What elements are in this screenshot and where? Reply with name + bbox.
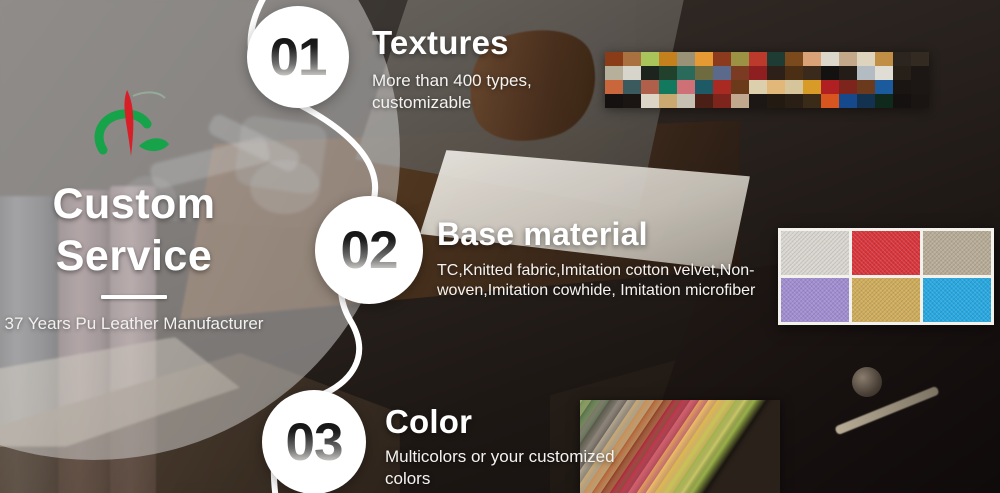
color-swatch-strip xyxy=(605,52,929,108)
color-swatch xyxy=(623,94,641,108)
color-swatch xyxy=(839,80,857,94)
color-swatch xyxy=(695,80,713,94)
color-swatch xyxy=(785,66,803,80)
color-swatch xyxy=(821,66,839,80)
color-swatch xyxy=(623,66,641,80)
step-number-circle-01: 01 xyxy=(247,6,349,108)
color-swatch xyxy=(731,94,749,108)
color-swatch xyxy=(785,52,803,66)
step-text-02: Base material TC,Knitted fabric,Imitatio… xyxy=(437,218,757,302)
color-swatch xyxy=(875,52,893,66)
step-heading-03: Color xyxy=(385,405,615,438)
color-swatch xyxy=(695,52,713,66)
color-swatch xyxy=(677,94,695,108)
color-swatch xyxy=(713,66,731,80)
color-swatch xyxy=(893,80,911,94)
color-swatch xyxy=(803,52,821,66)
background-metal-clip xyxy=(852,367,882,397)
color-swatch xyxy=(659,80,677,94)
color-swatch xyxy=(839,94,857,108)
step-heading-02: Base material xyxy=(437,218,757,250)
step-number-03: 03 xyxy=(286,416,343,469)
color-swatch xyxy=(857,52,875,66)
company-logo xyxy=(89,84,179,164)
color-swatch xyxy=(641,66,659,80)
color-swatch xyxy=(911,94,929,108)
color-swatch xyxy=(911,66,929,80)
color-swatch xyxy=(785,94,803,108)
color-swatch xyxy=(893,94,911,108)
color-swatch xyxy=(605,80,623,94)
color-swatch xyxy=(767,94,785,108)
color-swatch xyxy=(749,94,767,108)
color-swatch xyxy=(893,66,911,80)
step-number-02: 02 xyxy=(341,224,398,277)
step-text-03: Color Multicolors or your customized col… xyxy=(385,405,615,490)
color-swatch xyxy=(857,94,875,108)
color-swatch xyxy=(695,66,713,80)
material-sample-panel xyxy=(778,228,994,325)
color-swatch xyxy=(605,66,623,80)
color-swatch xyxy=(605,94,623,108)
color-swatch xyxy=(821,80,839,94)
color-swatch xyxy=(911,80,929,94)
material-sample-beige-woven-fabric xyxy=(923,231,991,275)
title-divider xyxy=(101,295,167,299)
color-swatch xyxy=(623,52,641,66)
color-swatch xyxy=(659,52,677,66)
color-swatch xyxy=(821,52,839,66)
color-swatch xyxy=(767,52,785,66)
page-title: Custom Service xyxy=(0,178,268,283)
color-swatch xyxy=(641,80,659,94)
material-sample-gold-leather xyxy=(852,278,920,322)
color-swatch xyxy=(803,80,821,94)
material-sample-white-grey-leather xyxy=(781,231,849,275)
material-sample-blue-leather xyxy=(923,278,991,322)
color-swatch xyxy=(821,94,839,108)
color-swatch xyxy=(767,80,785,94)
color-swatch xyxy=(839,66,857,80)
color-swatch xyxy=(677,80,695,94)
color-swatch xyxy=(857,80,875,94)
step-number-circle-03: 03 xyxy=(262,390,366,493)
color-swatch xyxy=(641,52,659,66)
color-swatch xyxy=(731,80,749,94)
brand-title-line1: Custom xyxy=(52,180,215,228)
color-swatch xyxy=(695,94,713,108)
color-swatch xyxy=(911,52,929,66)
color-swatch xyxy=(659,94,677,108)
color-swatch xyxy=(641,94,659,108)
leaf-drop-logo-icon xyxy=(89,84,179,164)
color-swatch xyxy=(785,80,803,94)
color-swatch xyxy=(875,80,893,94)
step-heading-01: Textures xyxy=(372,26,602,59)
brand-subtitle: 37 Years Pu Leather Manufacturer xyxy=(0,313,268,335)
brand-title-line2: Service xyxy=(56,232,213,280)
color-swatch xyxy=(875,94,893,108)
color-swatch xyxy=(875,66,893,80)
color-swatch xyxy=(893,52,911,66)
step-text-01: Textures More than 400 types, customizab… xyxy=(372,26,602,114)
color-swatch xyxy=(623,80,641,94)
infographic-banner: Custom Service 37 Years Pu Leather Manuf… xyxy=(0,0,1000,493)
color-swatch xyxy=(659,66,677,80)
color-swatch xyxy=(857,66,875,80)
material-sample-red-leather xyxy=(852,231,920,275)
color-swatch xyxy=(839,52,857,66)
brand-block: Custom Service 37 Years Pu Leather Manuf… xyxy=(0,84,268,335)
color-swatch xyxy=(749,80,767,94)
color-swatch xyxy=(749,66,767,80)
color-swatch xyxy=(731,66,749,80)
color-swatch xyxy=(713,52,731,66)
step-body-03: Multicolors or your customized colors xyxy=(385,446,615,490)
color-swatch xyxy=(713,80,731,94)
step-number-01: 01 xyxy=(270,31,327,84)
color-swatch xyxy=(731,52,749,66)
step-body-02: TC,Knitted fabric,Imitation cotton velve… xyxy=(437,261,757,302)
color-swatch xyxy=(749,52,767,66)
color-swatch xyxy=(803,94,821,108)
color-swatch xyxy=(803,66,821,80)
color-swatch xyxy=(677,52,695,66)
step-number-circle-02: 02 xyxy=(315,196,423,304)
color-swatch xyxy=(713,94,731,108)
color-swatch xyxy=(767,66,785,80)
step-body-01: More than 400 types, customizable xyxy=(372,70,602,114)
material-sample-purple-leather xyxy=(781,278,849,322)
color-swatch xyxy=(605,52,623,66)
color-swatch xyxy=(677,66,695,80)
